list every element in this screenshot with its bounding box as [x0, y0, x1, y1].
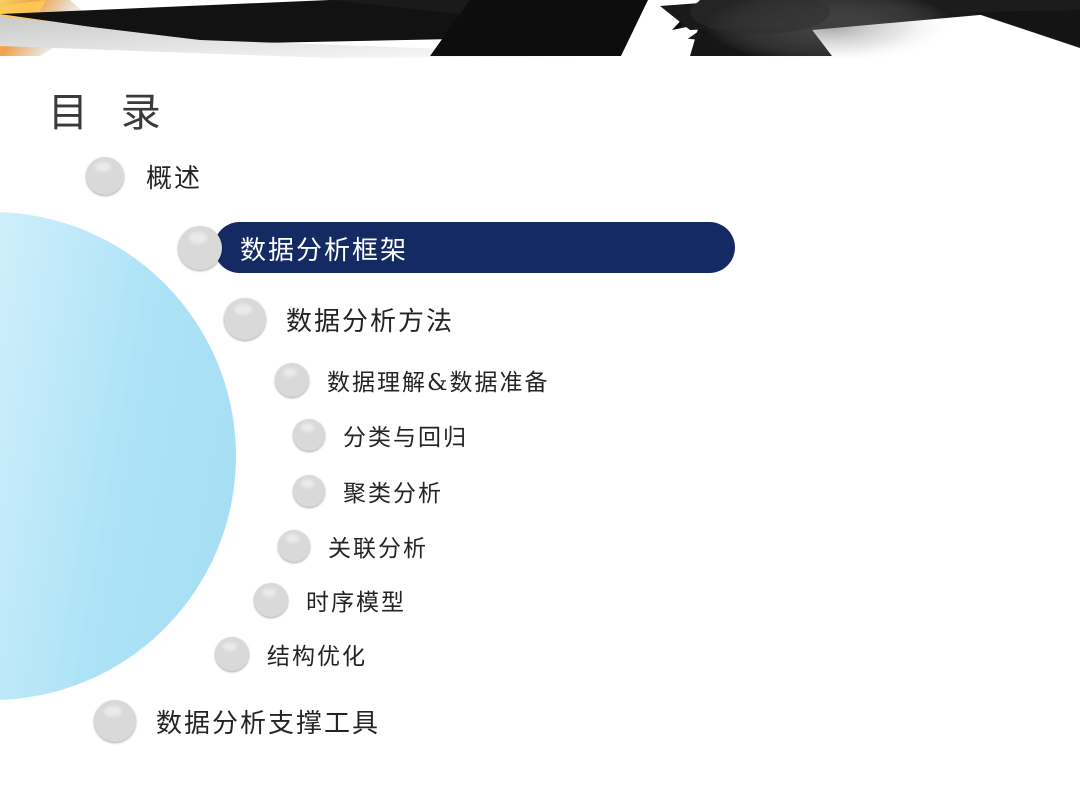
- toc-label: 数据分析支撑工具: [156, 703, 380, 740]
- toc-item-data-analysis-methods[interactable]: 数据分析方法: [224, 298, 454, 340]
- bullet-emerald-icon: [293, 419, 325, 451]
- toc-label: 数据分析方法: [286, 301, 454, 338]
- toc-item-data-analysis-framework[interactable]: 数据分析框架: [178, 226, 408, 270]
- page-title: 目 录: [48, 80, 171, 138]
- bullet-olive-icon: [293, 475, 325, 507]
- toc-label: 概述: [146, 158, 202, 195]
- bullet-sky-icon: [275, 363, 309, 397]
- bullet-amber-icon: [278, 530, 310, 562]
- bullet-green-icon: [178, 226, 222, 270]
- toc-label: 聚类分析: [343, 474, 443, 508]
- bullet-blue-icon: [215, 637, 249, 671]
- bullet-gold-icon: [86, 157, 124, 195]
- bullet-navy-icon: [254, 583, 288, 617]
- toc-item-support-tools[interactable]: 数据分析支撑工具: [94, 700, 380, 742]
- slide-root: 目 录 概述 数据分析框架 数据分析方法 数据理解&数据准备 分类与回归 聚类分…: [0, 0, 1080, 810]
- toc-item-time-series-model[interactable]: 时序模型: [254, 583, 406, 617]
- toc-label: 时序模型: [306, 583, 406, 617]
- toc-label: 分类与回归: [343, 418, 468, 452]
- toc-label: 数据分析框架: [240, 230, 408, 267]
- toc-item-data-understanding-preparation[interactable]: 数据理解&数据准备: [275, 363, 549, 397]
- toc-item-classification-regression[interactable]: 分类与回归: [293, 418, 468, 452]
- toc-item-cluster-analysis[interactable]: 聚类分析: [293, 474, 443, 508]
- bullet-orange-icon: [94, 700, 136, 742]
- toc-label: 数据理解&数据准备: [327, 363, 549, 397]
- toc-item-association-analysis[interactable]: 关联分析: [278, 529, 428, 563]
- toc-item-overview[interactable]: 概述: [86, 157, 202, 195]
- toc-label: 关联分析: [328, 529, 428, 563]
- toc-label: 结构优化: [267, 637, 367, 671]
- bullet-cyan-icon: [224, 298, 266, 340]
- toc-item-structure-optimization[interactable]: 结构优化: [215, 637, 367, 671]
